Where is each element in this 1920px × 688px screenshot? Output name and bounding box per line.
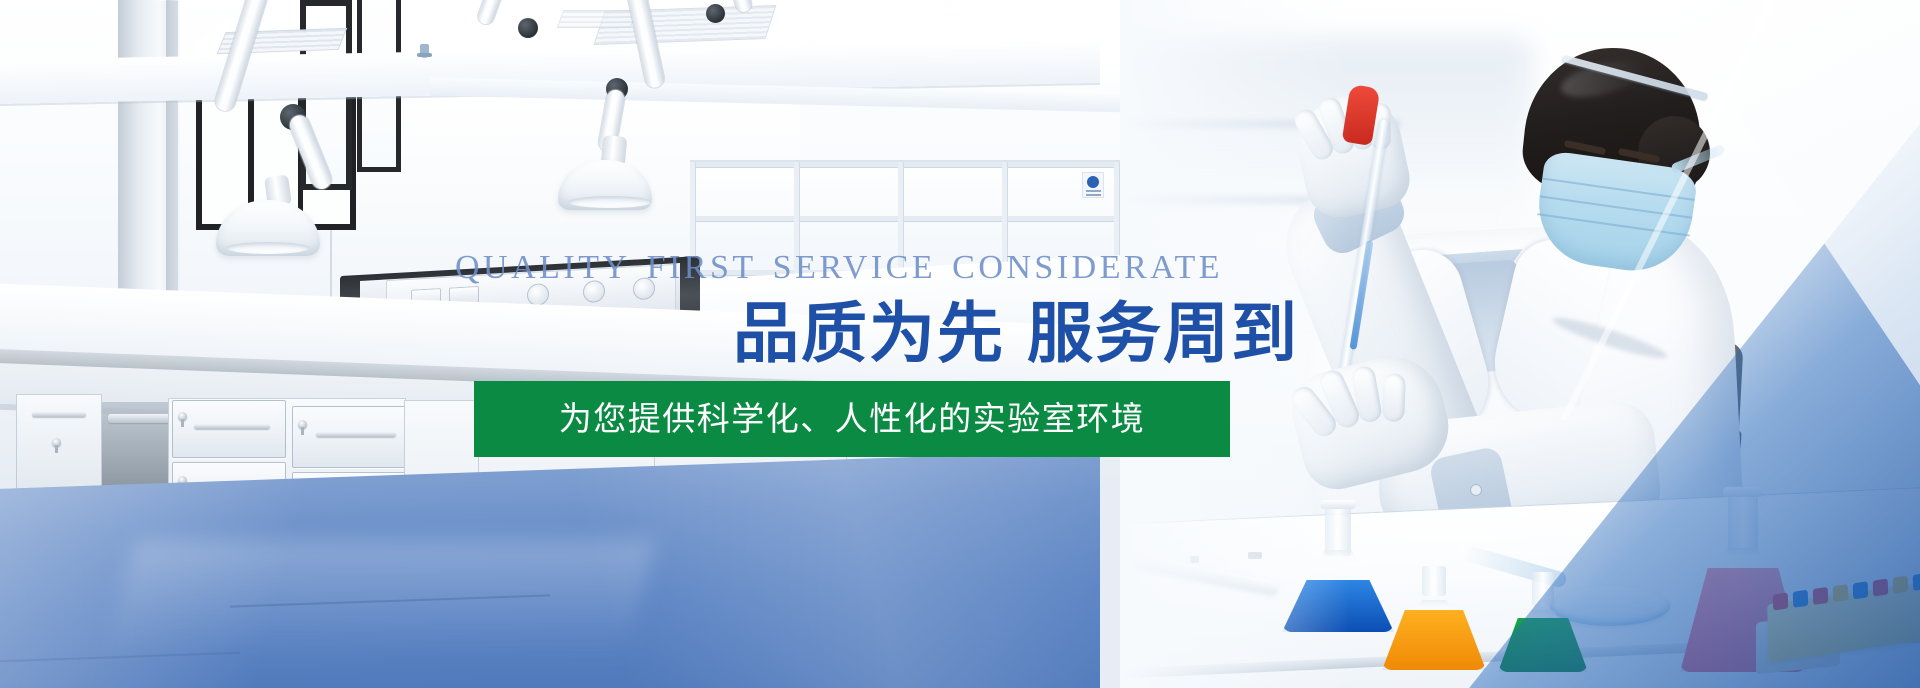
headline-chinese: 品质为先服务周到 [733,296,1299,372]
headline-english: QUALITYFIRSTSERVICECONSIDERATE [455,249,1223,287]
banner-text-block: QUALITYFIRSTSERVICECONSIDERATE 品质为先服务周到 … [0,0,1920,688]
headline-en-word: QUALITY [455,249,631,286]
hero-banner: QUALITYFIRSTSERVICECONSIDERATE 品质为先服务周到 … [0,0,1920,688]
headline-en-word: CONSIDERATE [952,249,1223,286]
headline-cn-right: 服务周到 [1027,295,1299,372]
headline-en-word: SERVICE [773,249,936,286]
subtitle-text: 为您提供科学化、人性化的实验室环境 [559,400,1146,438]
headline-en-word: FIRST [647,249,757,286]
subtitle-bar: 为您提供科学化、人性化的实验室环境 [474,381,1230,457]
headline-cn-left: 品质为先 [733,295,1005,372]
